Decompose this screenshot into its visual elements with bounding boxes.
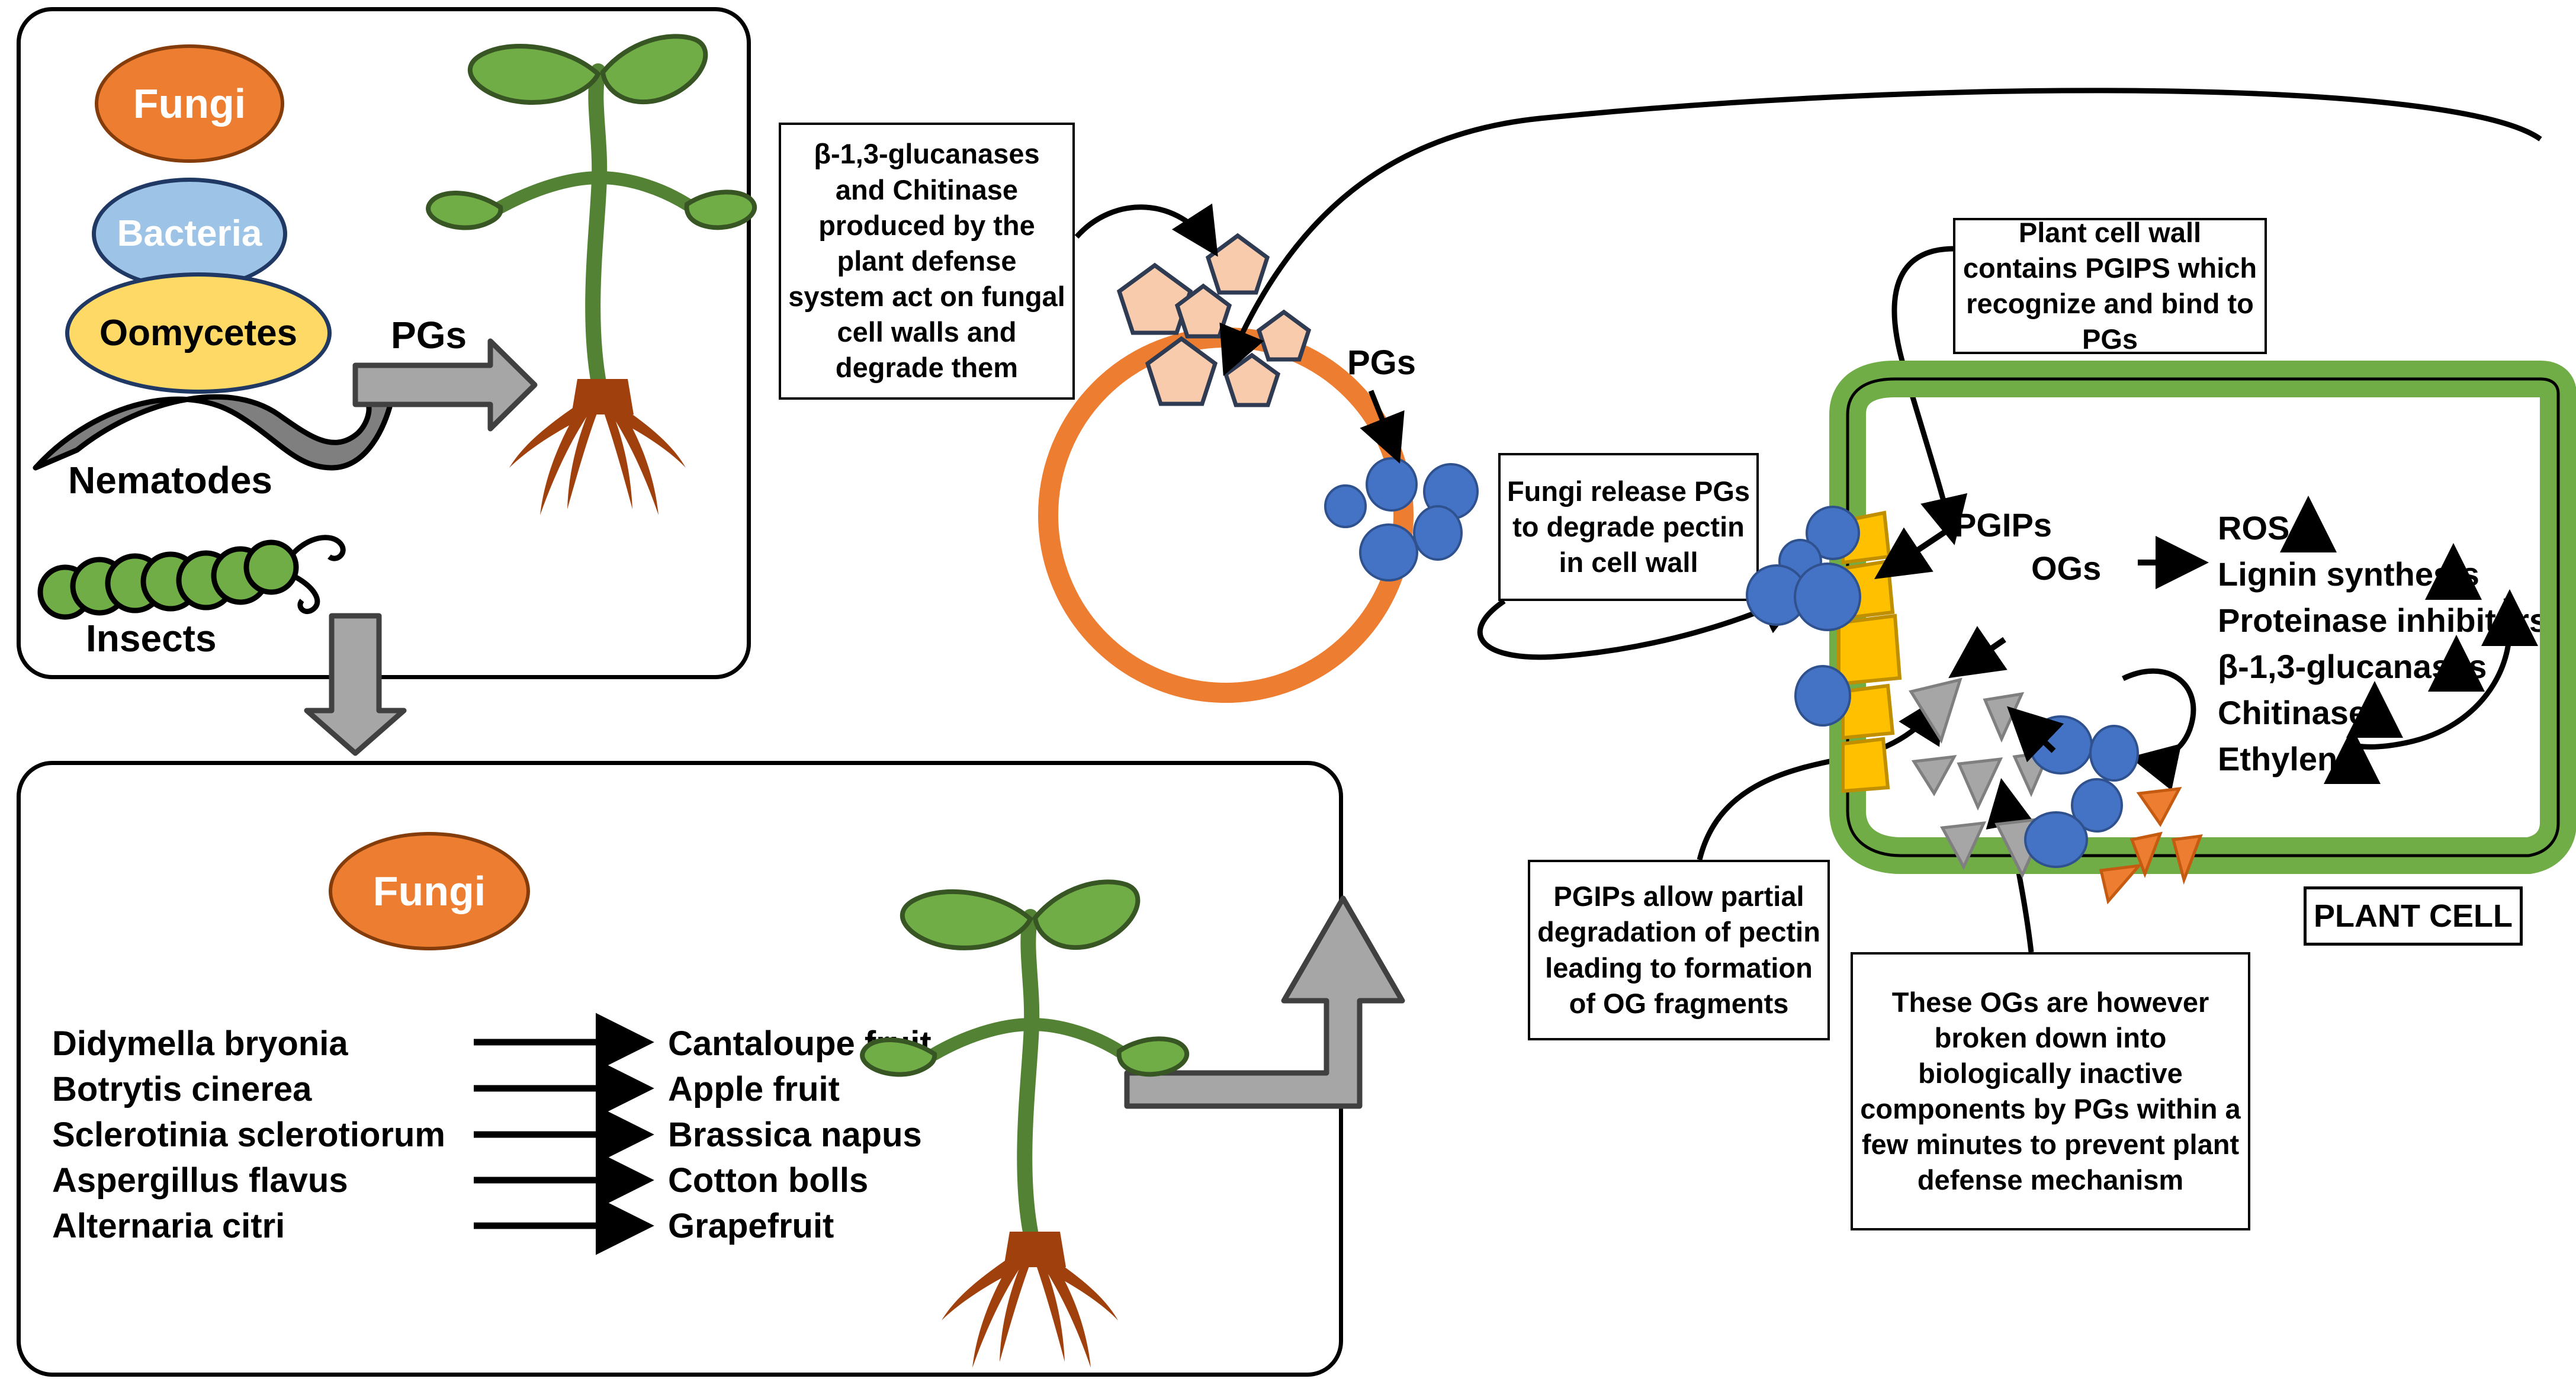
curve-pgipsbox-to-receptors bbox=[1894, 249, 1954, 536]
organism-label-fungi: Fungi bbox=[133, 83, 246, 124]
curve-pg-to-inactive-fragments bbox=[2123, 671, 2193, 760]
pg-molecules-cytoplasm bbox=[2025, 716, 2138, 867]
fungal-pathogen-label-line2: PATHOGEN bbox=[1143, 536, 1361, 580]
table-row: Apple fruit bbox=[668, 1070, 840, 1110]
inactive-og-fragments-orange bbox=[2101, 789, 2201, 901]
pgip-receptors bbox=[1839, 513, 1900, 791]
table-row: Grapefruit bbox=[668, 1207, 834, 1246]
panel-bottom-left bbox=[17, 761, 1343, 1377]
ogs-label: OGs bbox=[2031, 549, 2101, 587]
pgips-pointer-arrow bbox=[1883, 532, 1945, 573]
callout-pgips-wall-text: Plant cell wall contains PGIPS which rec… bbox=[1961, 215, 2259, 358]
plant-cell-label-box: PLANT CELL bbox=[2304, 886, 2523, 946]
pgs-label-pathogen: PGs bbox=[1347, 343, 1416, 383]
organism-ellipse-oomycetes: Oomycetes bbox=[65, 272, 332, 394]
callout-release-pgs-text: Fungi release PGs to degrade pectin in c… bbox=[1507, 474, 1750, 580]
table-row: Didymella bryonia bbox=[52, 1024, 348, 1064]
response-item: ROS bbox=[2218, 509, 2289, 547]
pg-molecules-at-wall bbox=[1747, 507, 1860, 725]
callout-pgips-partial-text: PGIPs allow partial degradation of pecti… bbox=[1536, 879, 1822, 1021]
callout-ogs-broken-text: These OGs are however broken down into b… bbox=[1859, 985, 2242, 1198]
curve-partialbox-to-ogs bbox=[1700, 702, 1939, 860]
response-item: Lignin synthesis bbox=[2218, 555, 2479, 593]
callout-glucanases: β-1,3-glucanases and Chitinase produced … bbox=[779, 123, 1075, 400]
callout-release-pgs: Fungi release PGs to degrade pectin in c… bbox=[1498, 453, 1759, 601]
pgips-label: PGIPs bbox=[1954, 506, 2052, 544]
ogs-pointer-arrows bbox=[1957, 563, 2198, 751]
table-row: Aspergillus flavus bbox=[52, 1161, 348, 1201]
callout-pgips-partial: PGIPs allow partial degradation of pecti… bbox=[1528, 860, 1830, 1040]
callout-glucanases-text: β-1,3-glucanases and Chitinase produced … bbox=[787, 136, 1067, 385]
pgs-arrow-label-top: PGs bbox=[391, 314, 467, 358]
callout-pgips-wall: Plant cell wall contains PGIPS which rec… bbox=[1953, 218, 2267, 354]
curve-plantcell-to-fungus bbox=[1227, 91, 2540, 367]
organism-label-insects: Insects bbox=[86, 617, 217, 661]
table-row: Cotton bolls bbox=[668, 1161, 868, 1201]
group-ellipse-fungi: Fungi bbox=[329, 832, 530, 950]
organism-ellipse-fungi: Fungi bbox=[95, 44, 284, 163]
cell-wall-fragment-pentagons bbox=[1119, 236, 1309, 405]
group-label-fungi: Fungi bbox=[373, 870, 486, 912]
response-item: Proteinase inhibitors bbox=[2218, 602, 2548, 640]
fungal-pathogen-label-line1: FUNGAL bbox=[1158, 483, 1323, 526]
cell-wall-label: CELL WALL bbox=[2114, 410, 2282, 442]
organism-label-nematodes: Nematodes bbox=[68, 459, 272, 503]
response-item: Ethylene bbox=[2218, 740, 2356, 778]
response-item: β-1,3-glucanases bbox=[2218, 648, 2487, 686]
table-row: Botrytis cinerea bbox=[52, 1070, 311, 1110]
organism-label-oomycetes: Oomycetes bbox=[99, 315, 297, 352]
diagram-canvas: Fungi Bacteria Oomycetes Nematodes Insec… bbox=[0, 0, 2576, 1385]
response-item: Chitinase bbox=[2218, 694, 2367, 732]
table-row: Brassica napus bbox=[668, 1116, 922, 1155]
organism-label-bacteria: Bacteria bbox=[117, 216, 262, 252]
curve-releasepgs-to-wall bbox=[1480, 595, 1797, 657]
curve-glucanase-to-pentagons bbox=[1077, 207, 1213, 249]
pgs-pointer-arrow bbox=[1371, 391, 1396, 455]
og-fragments-gray bbox=[1911, 680, 2049, 875]
plant-cell-label: PLANT CELL bbox=[2314, 898, 2513, 934]
table-row: Cantaloupe fruit bbox=[668, 1024, 932, 1064]
callout-ogs-broken: These OGs are however broken down into b… bbox=[1851, 952, 2250, 1230]
table-row: Alternaria citri bbox=[52, 1207, 285, 1246]
table-row: Sclerotinia sclerotiorum bbox=[52, 1116, 445, 1155]
curve-brokenbox-to-fragments bbox=[2003, 788, 2031, 952]
